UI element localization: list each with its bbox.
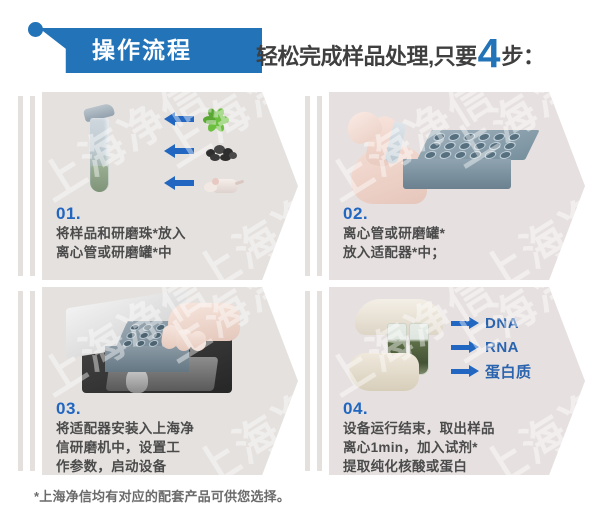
- mineral-sample-icon: [202, 139, 244, 163]
- card-accent-bar-inner: [317, 96, 322, 276]
- section-banner: 操作流程: [28, 22, 264, 74]
- step-card-4: DNA RNA 蛋白质 上海净信 上海净信: [305, 287, 585, 475]
- output-label: DNA: [485, 315, 519, 332]
- arrow-right-icon: [451, 318, 479, 328]
- step-2-illustration: [339, 100, 539, 210]
- extraction-outputs: DNA RNA 蛋白质: [451, 311, 581, 383]
- footer-note: *上海净信均有对应的配套产品可供您选择。: [34, 486, 434, 505]
- step-card-body: 上海净信 上海净信 上海净信 02. 离心管或研磨罐* 放入适配器*中；: [329, 92, 585, 280]
- step-number: 01.: [56, 204, 271, 224]
- step-card-body: 上海净信 上海净信 上海净信 03. 将适配器安装入上海净 信研磨机中，设置工 …: [42, 287, 298, 475]
- step-card-text: 04. 设备运行结束，取出样品 离心1min，加入试剂* 提取纯化核酸或蛋白: [343, 399, 558, 475]
- card-accent-bar-outer: [18, 96, 23, 276]
- header: 操作流程 轻松完成样品处理,只要 4 步：: [0, 0, 600, 90]
- headline-text-after: 步：: [501, 39, 544, 71]
- sample-row-plant: [164, 108, 256, 130]
- centrifuge-tube-icon: [82, 106, 116, 198]
- step-card-text: 02. 离心管或研磨罐* 放入适配器*中；: [343, 204, 558, 262]
- card-accent-bar-inner: [30, 96, 35, 276]
- arrow-left-icon: [164, 114, 194, 124]
- grinder-machine-icon: [64, 295, 254, 407]
- step-card-1: 上海净信 上海净信 上海净信 01. 将样品和研磨珠*放入 离心管或研磨罐*中: [18, 92, 298, 280]
- step-number: 02.: [343, 204, 558, 224]
- sample-row-animal: [164, 172, 256, 194]
- mouse-sample-icon: [202, 171, 244, 195]
- step-card-2: 上海净信 上海净信 上海净信 02. 离心管或研磨罐* 放入适配器*中；: [305, 92, 585, 280]
- adapter-block-icon: [417, 130, 525, 192]
- banner-dot-icon: [28, 22, 43, 37]
- headline-step-count: 4: [478, 33, 501, 74]
- step-description: 设备运行结束，取出样品 离心1min，加入试剂* 提取纯化核酸或蛋白: [343, 419, 558, 475]
- footer: *上海净信均有对应的配套产品可供您选择。: [34, 486, 434, 505]
- gloved-hand-holding-vials-icon: [349, 299, 457, 399]
- step-4-illustration: DNA RNA 蛋白质: [339, 295, 539, 405]
- steps-grid: 上海净信 上海净信 上海净信 01. 将样品和研磨珠*放入 离心管或研磨罐*中: [0, 90, 600, 480]
- step-card-body: 上海净信 上海净信 上海净信 01. 将样品和研磨珠*放入 离心管或研磨罐*中: [42, 92, 298, 280]
- sample-row-mineral: [164, 140, 256, 162]
- card-accent-bar-inner: [317, 291, 322, 471]
- step-card-text: 03. 将适配器安装入上海净 信研磨机中，设置工 作参数，启动设备: [56, 399, 271, 475]
- step-3-illustration: [52, 295, 252, 405]
- headline-text-before: 轻松完成样品处理,只要: [256, 39, 477, 71]
- hand-installing-adapter-icon: [160, 297, 246, 353]
- arrow-left-icon: [164, 146, 194, 156]
- card-accent-bar-outer: [18, 291, 23, 471]
- arrow-left-icon: [164, 178, 194, 188]
- step-description: 将适配器安装入上海净 信研磨机中，设置工 作参数，启动设备: [56, 419, 271, 475]
- process-flow-infographic: 操作流程 轻松完成样品处理,只要 4 步：: [0, 0, 600, 526]
- arrow-right-icon: [451, 342, 479, 352]
- output-row-dna: DNA: [451, 311, 581, 335]
- banner-title: 操作流程: [92, 33, 252, 67]
- step-number: 03.: [56, 399, 271, 419]
- step-description: 将样品和研磨珠*放入 离心管或研磨罐*中: [56, 224, 271, 262]
- plant-sample-icon: [202, 107, 244, 131]
- card-accent-bar-outer: [305, 291, 310, 471]
- step-card-text: 01. 将样品和研磨珠*放入 离心管或研磨罐*中: [56, 204, 271, 262]
- output-label: 蛋白质: [485, 361, 532, 382]
- headline: 轻松完成样品处理,只要 4 步：: [256, 30, 544, 76]
- output-label: RNA: [485, 339, 519, 356]
- output-row-protein: 蛋白质: [451, 359, 581, 383]
- card-accent-bar-outer: [305, 96, 310, 276]
- step-1-illustration: [52, 100, 252, 210]
- output-row-rna: RNA: [451, 335, 581, 359]
- step-card-body: DNA RNA 蛋白质 上海净信 上海净信: [329, 287, 585, 475]
- step-description: 离心管或研磨罐* 放入适配器*中；: [343, 224, 558, 262]
- step-card-3: 上海净信 上海净信 上海净信 03. 将适配器安装入上海净 信研磨机中，设置工 …: [18, 287, 298, 475]
- arrow-right-icon: [451, 366, 479, 376]
- card-accent-bar-inner: [30, 291, 35, 471]
- step-number: 04.: [343, 399, 558, 419]
